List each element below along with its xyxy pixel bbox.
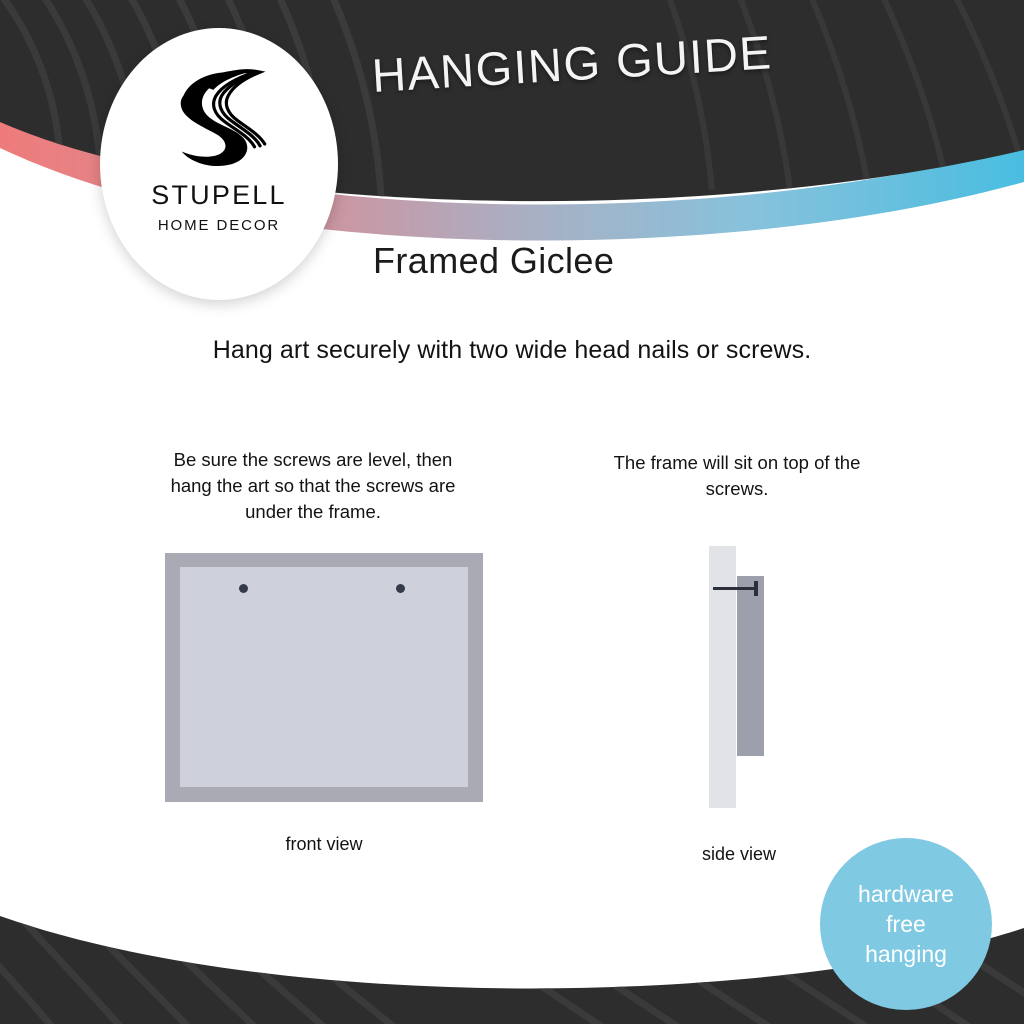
front-view-label: front view (164, 834, 484, 855)
badge-line-2: free (886, 909, 926, 939)
hanging-guide-page: STUPELL HOME DECOR HANGING GUIDE Framed … (0, 0, 1024, 1024)
hardware-free-hanging-badge: hardware free hanging (820, 838, 992, 1010)
badge-line-1: hardware (858, 879, 954, 909)
side-wall-strip (709, 546, 736, 808)
front-frame-mat (180, 567, 468, 787)
page-title: HANGING GUIDE (370, 17, 892, 103)
badge-line-3: hanging (865, 939, 947, 969)
side-view-diagram (709, 546, 769, 808)
side-frame-strip (737, 576, 764, 756)
main-instruction-text: Hang art securely with two wide head nai… (0, 336, 1024, 365)
nail-side-icon (713, 587, 757, 590)
stupell-swirl-logo-icon (163, 60, 275, 172)
side-view-caption: The frame will sit on top of the screws. (605, 450, 869, 502)
brand-logo-badge: STUPELL HOME DECOR (100, 28, 338, 300)
screw-dot-left-icon (239, 584, 248, 593)
side-view-label: side view (649, 844, 829, 865)
nail-head-icon (754, 581, 758, 596)
brand-primary-name: STUPELL (151, 182, 286, 209)
front-view-caption: Be sure the screws are level, then hang … (163, 447, 463, 525)
front-view-diagram (165, 553, 483, 802)
product-type-label: Framed Giclee (373, 240, 614, 282)
brand-secondary-name: HOME DECOR (158, 218, 280, 233)
screw-dot-right-icon (396, 584, 405, 593)
